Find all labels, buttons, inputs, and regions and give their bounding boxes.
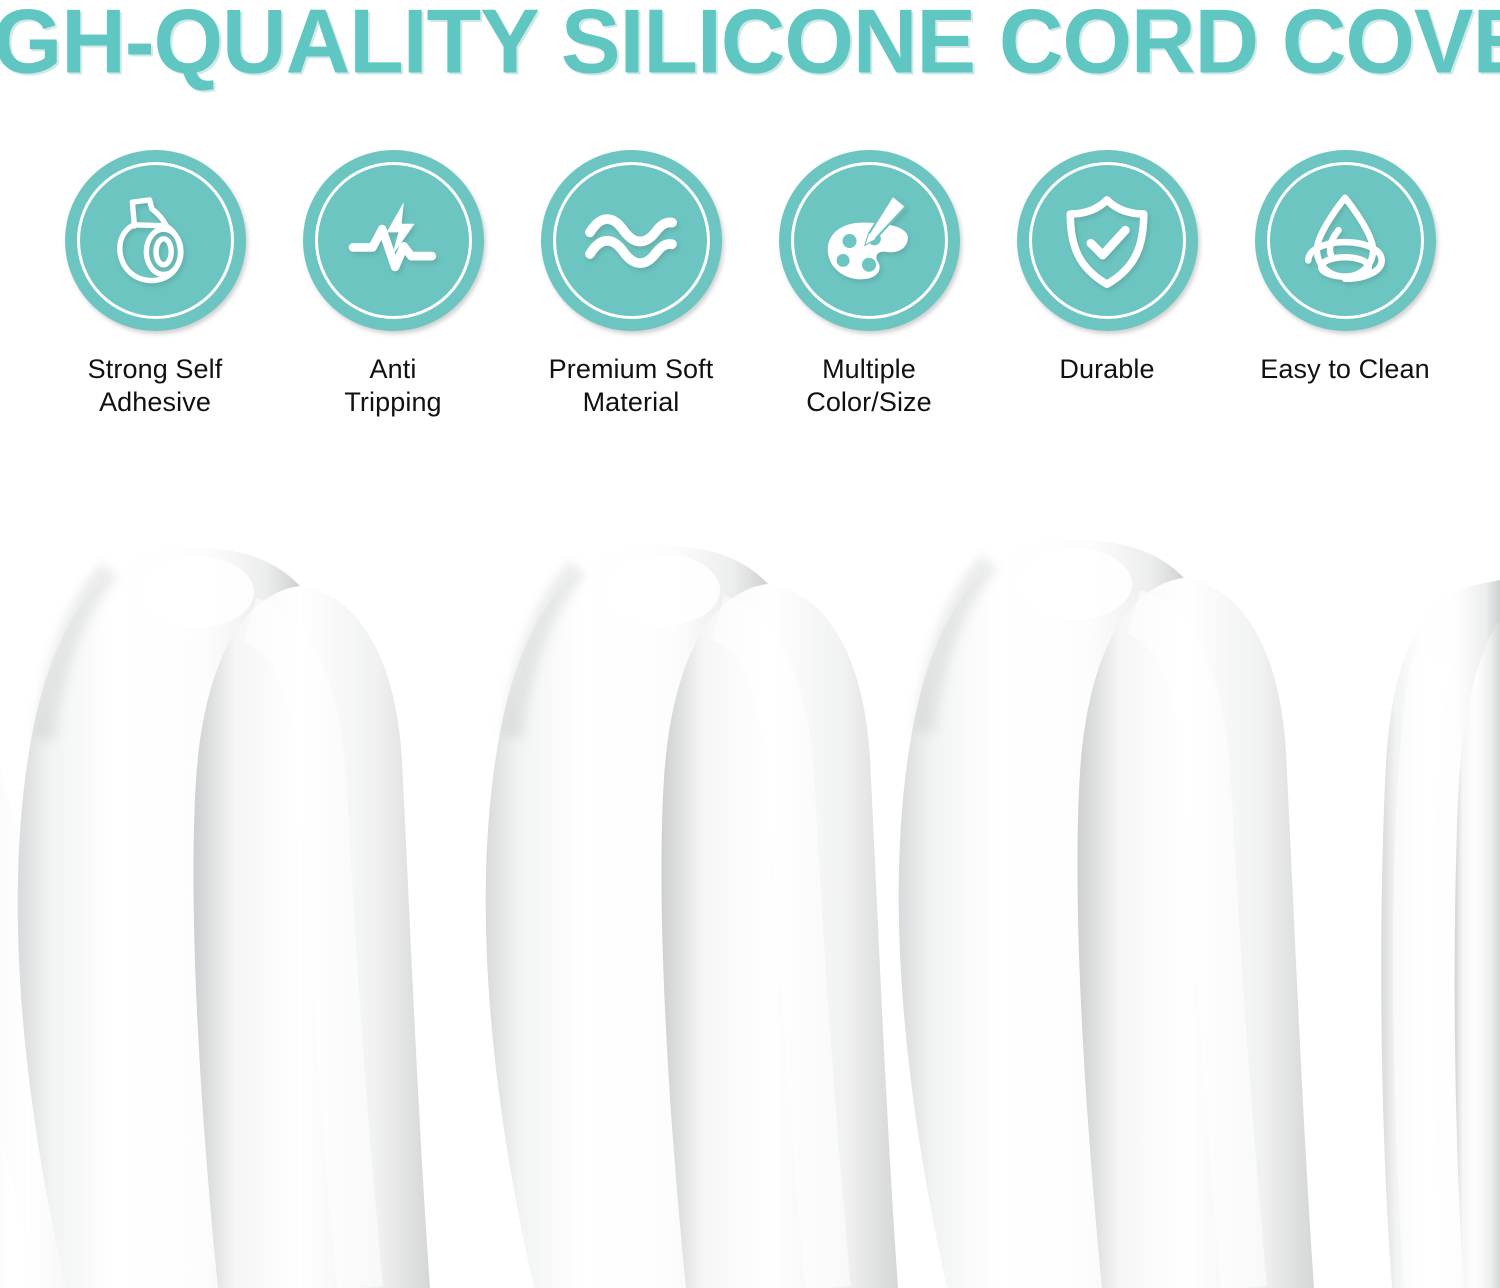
feature-badge xyxy=(779,150,960,331)
feature-label: Premium Soft Material xyxy=(549,353,714,419)
feature-badge xyxy=(65,150,246,331)
feature-label: Multiple Color/Size xyxy=(806,353,932,419)
feature-item-durable[interactable]: Durable xyxy=(988,150,1226,386)
pulse-lightning-icon xyxy=(339,187,447,295)
product-photo xyxy=(0,500,1500,1288)
feature-item-premium-soft-material[interactable]: Premium Soft Material xyxy=(512,150,750,419)
soft-waves-icon xyxy=(577,187,685,295)
coiled-cord-cover-illustration xyxy=(0,500,1500,1288)
feature-label: Strong Self Adhesive xyxy=(88,353,223,419)
header-banner: HIGH-QUALITY SILICONE CORD COVER xyxy=(0,0,1500,88)
feature-badge xyxy=(1255,150,1436,331)
paint-palette-brush-icon xyxy=(815,187,923,295)
feature-list: Strong Self Adhesive Anti Tripping Premi… xyxy=(0,150,1500,450)
feature-badge xyxy=(541,150,722,331)
feature-badge xyxy=(303,150,484,331)
feature-label: Easy to Clean xyxy=(1260,353,1429,386)
feature-label: Anti Tripping xyxy=(344,353,441,419)
feature-item-anti-tripping[interactable]: Anti Tripping xyxy=(274,150,512,419)
feature-item-strong-self-adhesive[interactable]: Strong Self Adhesive xyxy=(36,150,274,419)
feature-badge xyxy=(1017,150,1198,331)
water-droplet-ripple-icon xyxy=(1291,187,1399,295)
feature-label: Durable xyxy=(1059,353,1154,386)
shield-check-icon xyxy=(1053,187,1161,295)
feature-item-easy-to-clean[interactable]: Easy to Clean xyxy=(1226,150,1464,386)
page-title: HIGH-QUALITY SILICONE CORD COVER xyxy=(0,0,1500,87)
adhesive-tape-roll-icon xyxy=(101,187,209,295)
feature-item-multiple-color-size[interactable]: Multiple Color/Size xyxy=(750,150,988,419)
